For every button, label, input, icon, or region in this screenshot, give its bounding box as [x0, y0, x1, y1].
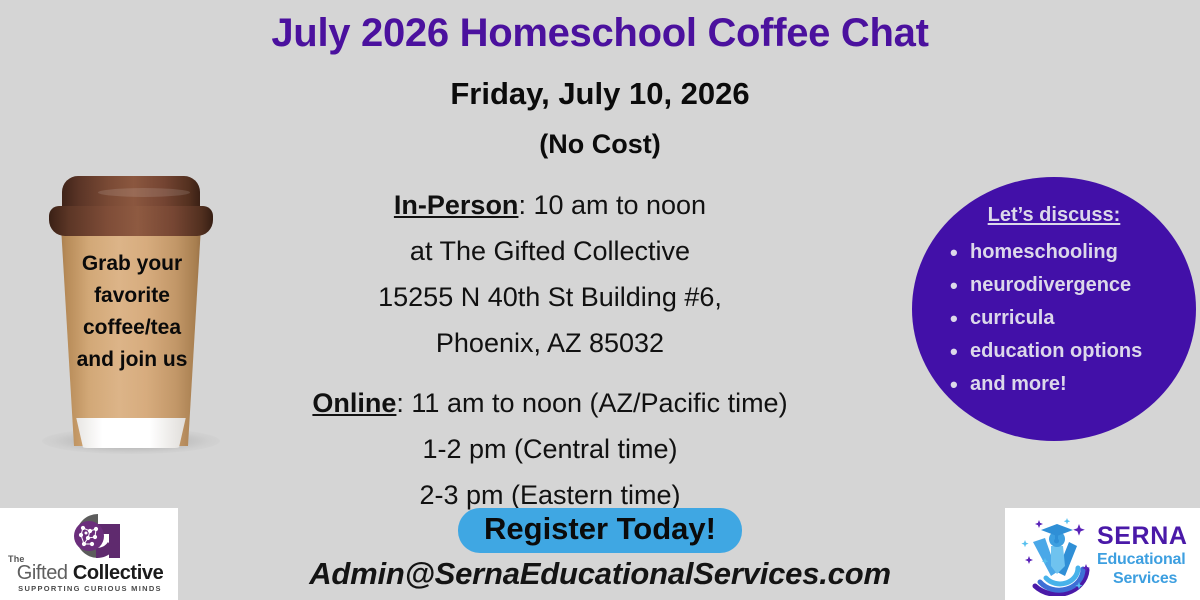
gifted-collective-g-icon — [52, 510, 126, 562]
serna-graduate-icon — [1015, 512, 1097, 596]
cup-lid-highlight — [98, 188, 190, 197]
online-time: : 11 am to noon (AZ/Pacific time) — [396, 388, 787, 418]
gifted-collective-logo: The Gifted Collective SUPPORTING CURIOUS… — [0, 508, 178, 600]
bullet-icon: • — [950, 269, 958, 302]
list-item: •curricula — [948, 302, 1196, 335]
flyer-canvas: July 2026 Homeschool Coffee Chat Friday,… — [0, 0, 1200, 600]
detail-online-central: 1-2 pm (Central time) — [190, 426, 910, 472]
cup-text-line3: coffee/tea — [46, 312, 218, 344]
cup-text-line4: and join us — [46, 344, 218, 376]
list-item: •education options — [948, 335, 1196, 368]
discuss-heading-text: Let’s discuss: — [988, 204, 1121, 226]
list-item: •and more! — [948, 368, 1196, 401]
bullet-icon: • — [950, 335, 958, 368]
gifted-collective-tagline: SUPPORTING CURIOUS MINDS — [6, 584, 174, 593]
detail-online-time: Online: 11 am to noon (AZ/Pacific time) — [190, 380, 910, 426]
page-title: July 2026 Homeschool Coffee Chat — [0, 12, 1200, 54]
detail-venue: at The Gifted Collective — [190, 228, 910, 274]
coffee-cup-image: Grab your favorite coffee/tea and join u… — [38, 170, 223, 450]
detail-spacer — [190, 366, 910, 380]
list-item: •neurodivergence — [948, 269, 1196, 302]
detail-address-line1: 15255 N 40th St Building #6, — [190, 274, 910, 320]
serna-wordmark: SERNA — [1097, 522, 1188, 551]
detail-in-person-time: In-Person: 10 am to noon — [190, 182, 910, 228]
discuss-topic-label: neurodivergence — [970, 274, 1131, 296]
discuss-topic-label: education options — [970, 340, 1142, 362]
cup-lid-rim — [49, 206, 213, 236]
discuss-topic-label: curricula — [970, 307, 1054, 329]
discuss-topic-list: •homeschooling •neurodivergence •curricu… — [948, 236, 1196, 401]
list-item: •homeschooling — [948, 236, 1196, 269]
discuss-topics-circle: Let’s discuss: •homeschooling •neurodive… — [912, 177, 1196, 441]
cup-text-line1: Grab your — [46, 248, 218, 280]
event-details: In-Person: 10 am to noon at The Gifted C… — [190, 182, 910, 518]
discuss-topic-label: and more! — [970, 373, 1067, 395]
serna-sub-services: Services — [1113, 570, 1177, 588]
serna-sub-educational: Educational — [1097, 551, 1185, 569]
discuss-heading: Let’s discuss: — [912, 204, 1196, 227]
cup-text-line2: favorite — [46, 280, 218, 312]
cup-base — [74, 418, 188, 448]
gifted-collective-name-light: Gifted — [17, 562, 73, 584]
in-person-time: : 10 am to noon — [518, 190, 706, 220]
bullet-icon: • — [950, 368, 958, 401]
serna-educational-services-logo: SERNA Educational Services — [1005, 508, 1200, 600]
gifted-collective-name-bold: Collective — [73, 562, 163, 584]
register-button[interactable]: Register Today! — [458, 508, 742, 553]
gifted-collective-name: Gifted Collective — [6, 562, 174, 585]
online-label: Online — [312, 388, 396, 418]
event-date: Friday, July 10, 2026 — [0, 76, 1200, 112]
in-person-label: In-Person — [394, 190, 519, 220]
cup-overlay-text: Grab your favorite coffee/tea and join u… — [46, 248, 218, 376]
bullet-icon: • — [950, 302, 958, 335]
discuss-topic-label: homeschooling — [970, 241, 1118, 263]
bullet-icon: • — [950, 236, 958, 269]
cost-note: (No Cost) — [0, 129, 1200, 160]
detail-address-line2: Phoenix, AZ 85032 — [190, 320, 910, 366]
